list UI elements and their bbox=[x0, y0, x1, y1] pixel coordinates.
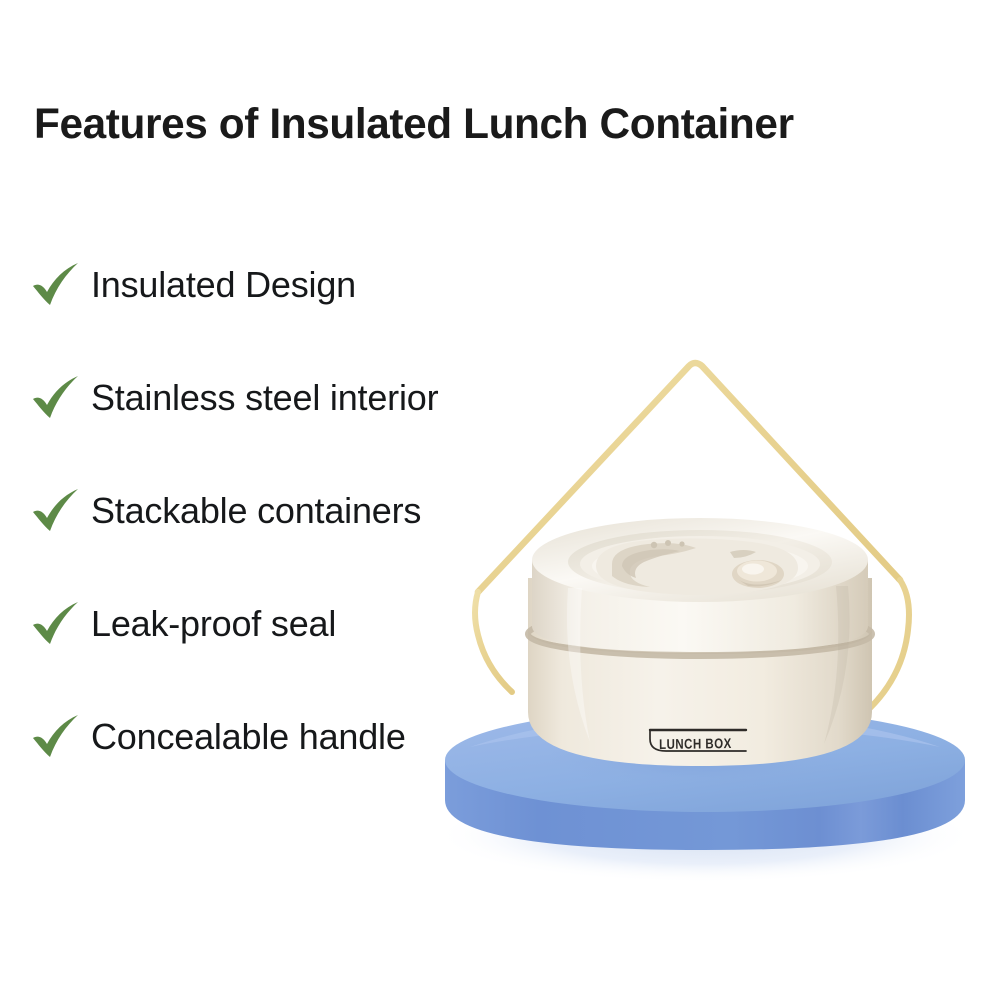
rivet-right bbox=[679, 541, 684, 546]
infographic-canvas: Features of Insulated Lunch Container In… bbox=[0, 0, 1000, 1000]
list-item: Insulated Design bbox=[0, 228, 560, 341]
check-icon bbox=[30, 713, 82, 761]
rivet-mid bbox=[665, 540, 671, 546]
list-item-label: Insulated Design bbox=[91, 264, 356, 306]
vent-knob-highlight bbox=[742, 564, 764, 575]
page-title: Features of Insulated Lunch Container bbox=[34, 100, 960, 149]
rivet-left bbox=[651, 542, 657, 548]
list-item-label: Concealable handle bbox=[91, 716, 406, 758]
check-icon bbox=[30, 374, 82, 422]
carry-handle-cord-left-lower bbox=[475, 592, 512, 692]
product-image bbox=[400, 330, 1000, 890]
list-item-label: Leak-proof seal bbox=[91, 603, 336, 645]
check-icon bbox=[30, 600, 82, 648]
check-icon bbox=[30, 261, 82, 309]
list-item-label: Stackable containers bbox=[91, 490, 421, 532]
check-icon bbox=[30, 487, 82, 535]
list-item-label: Stainless steel interior bbox=[91, 377, 438, 419]
